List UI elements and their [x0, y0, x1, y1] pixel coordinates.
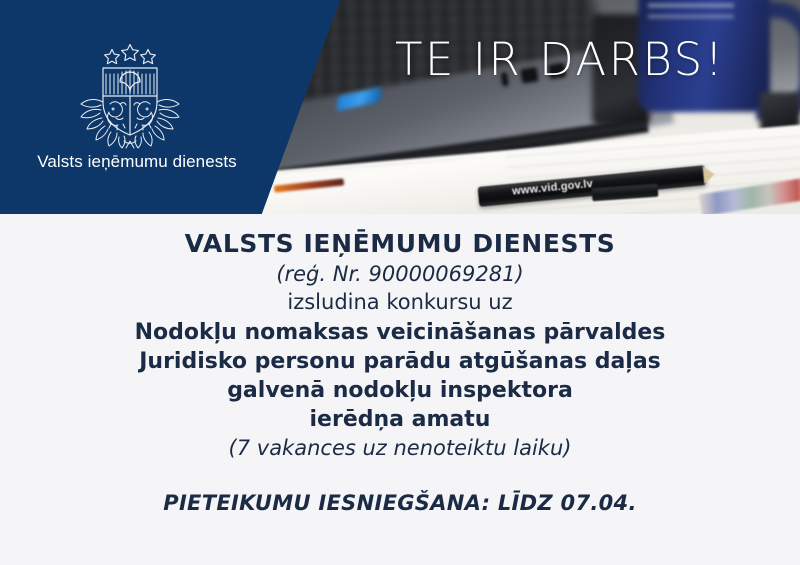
vacancy-count: (7 vakances uz nenoteiktu laiku)	[0, 437, 800, 459]
organization-name: Valsts ieņēmumu dienests	[22, 152, 252, 172]
hero-headline: TE IR DARBS!	[395, 33, 725, 86]
department-line-1: Nodokļu nomaksas veicināšanas pārvaldes	[0, 321, 800, 344]
application-deadline: PIETEIKUMU IESNIEGŠANA: LĪDZ 07.04.	[0, 492, 800, 514]
job-advertisement-poster: www.vid.gov.lv	[0, 0, 800, 565]
mug-printed-text-image	[648, 4, 734, 30]
poster-header: www.vid.gov.lv	[0, 0, 800, 214]
position-line-2: ierēdņa amatu	[0, 408, 800, 431]
latvia-coat-of-arms-icon	[75, 42, 185, 150]
department-line-2: Juridisko personu parādu atgūšanas daļas	[0, 350, 800, 373]
position-line-1: galvenā nodokļu inspektora	[0, 379, 800, 402]
announcement-title: VALSTS IEŅĒMUMU DIENESTS	[0, 231, 800, 258]
announces-text: izsludina konkursu uz	[0, 291, 800, 313]
pencil-tip-icon	[703, 165, 716, 184]
registration-number: (reģ. Nr. 90000069281)	[0, 263, 800, 285]
announcement-body: VALSTS IEŅĒMUMU DIENESTS (reģ. Nr. 90000…	[0, 214, 800, 565]
